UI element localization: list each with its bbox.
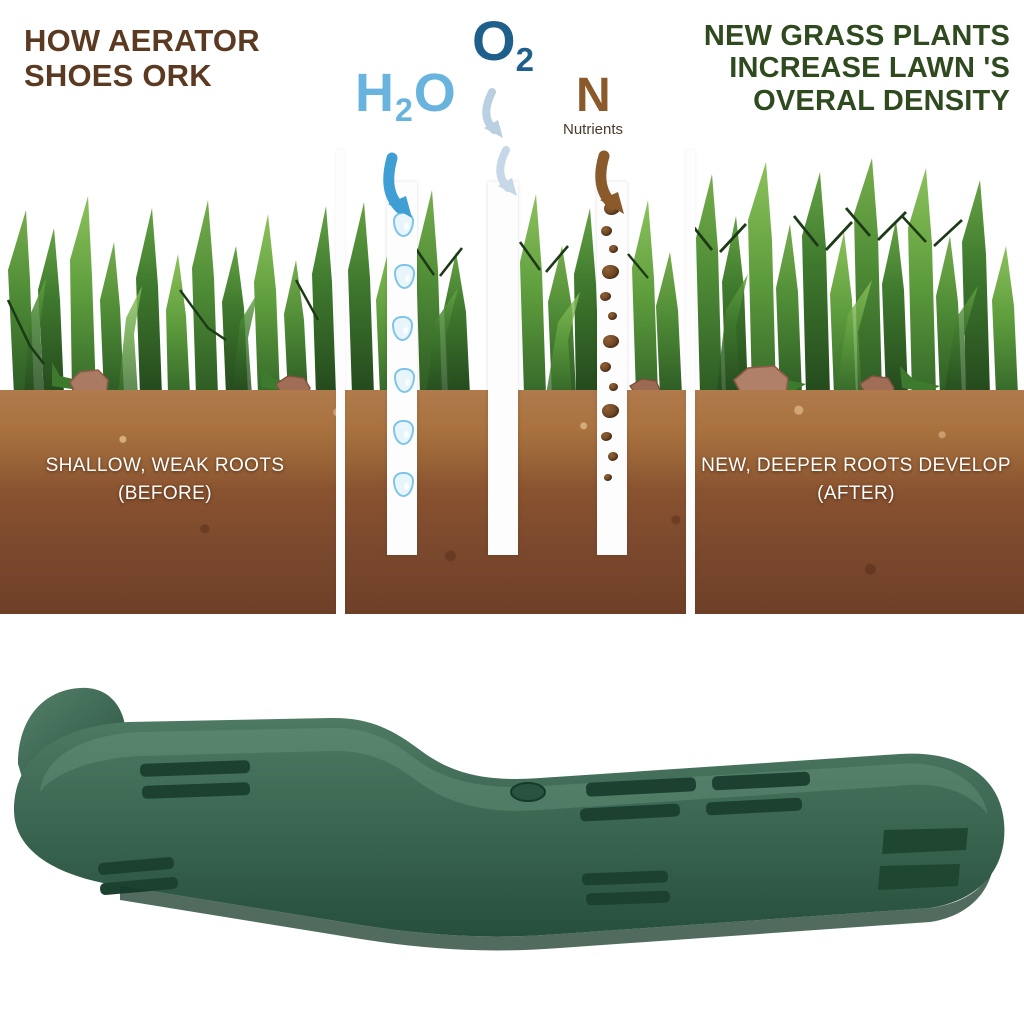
aerator-shoe-photo xyxy=(0,614,1024,1024)
nutrient-channel xyxy=(597,182,627,555)
nutrients-label: Nutrients xyxy=(563,121,623,138)
panel-divider-left xyxy=(336,150,345,614)
o2-o: O xyxy=(472,9,516,72)
water-arrow-icon xyxy=(378,152,438,232)
h2o-label: H2O xyxy=(355,62,457,124)
panel-divider-right xyxy=(686,150,695,614)
aeration-diagram-panel: SHALLOW, WEAK ROOTS (BEFORE) NEW, DEEPER… xyxy=(0,0,1024,614)
o2-sub: 2 xyxy=(516,41,534,78)
o2-label: O2 xyxy=(472,8,534,73)
nutrient-arrow-icon xyxy=(588,150,650,232)
caption-before: SHALLOW, WEAK ROOTS (BEFORE) xyxy=(10,452,320,507)
h2o-sub: 2 xyxy=(395,92,414,128)
page-title-left: HOW AERATOR SHOES ORK xyxy=(24,24,324,93)
nitrogen-label: N xyxy=(576,68,611,123)
oxygen-arrow-icon xyxy=(486,146,542,226)
channel-tip xyxy=(488,525,518,555)
water-channel xyxy=(387,182,417,555)
caption-after: NEW, DEEPER ROOTS DEVELOP (AFTER) xyxy=(700,452,1012,507)
h2o-o: O xyxy=(414,63,457,123)
shoe-strap-hole xyxy=(511,783,545,801)
channel-tip xyxy=(597,525,627,555)
page-title-right: NEW GRASS PLANTS INCREASE LAWN 'S OVERAL… xyxy=(680,20,1010,117)
channel-tip xyxy=(387,525,417,555)
infographic-page: SHALLOW, WEAK ROOTS (BEFORE) NEW, DEEPER… xyxy=(0,0,1024,1024)
oxygen-channel xyxy=(488,182,518,555)
channel-shaft xyxy=(488,182,518,525)
h2o-h: H xyxy=(355,63,395,123)
